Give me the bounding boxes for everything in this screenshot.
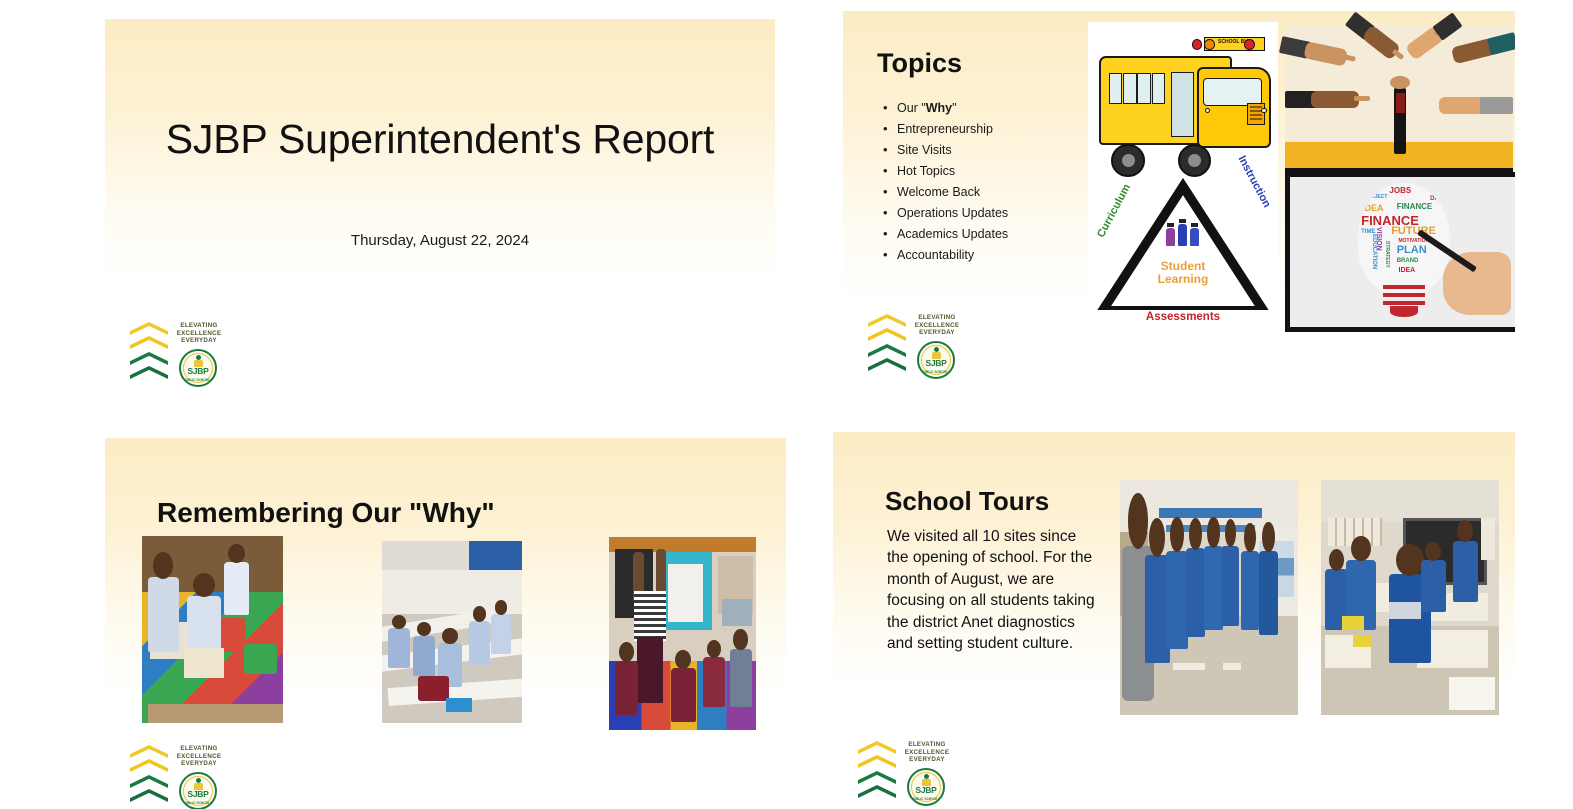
photo-cafeteria[interactable] bbox=[382, 541, 522, 723]
sjbp-seal-icon: SJBP PUBLIC SCHOOLS bbox=[907, 768, 945, 806]
chevron-icon bbox=[858, 741, 896, 799]
chevron-icon bbox=[130, 322, 168, 380]
logo-tagline: ELEVATING EXCELLENCE EVERYDAY bbox=[170, 322, 228, 345]
list-item[interactable]: Site Visits bbox=[881, 140, 1096, 161]
tours-body-text: We visited all 10 sites since the openin… bbox=[887, 526, 1102, 655]
finance-image[interactable]: JOBS PROJECT DATA IDEA FINANCE FINANCE T… bbox=[1285, 172, 1515, 332]
district-logo: ELEVATING EXCELLENCE EVERYDAY SJBP PUBLI… bbox=[130, 318, 226, 384]
graduates-icon bbox=[1166, 222, 1200, 246]
logo-tagline: ELEVATINGEXCELLENCEEVERYDAY bbox=[170, 745, 228, 768]
chevron-icon bbox=[868, 314, 906, 372]
district-logo: ELEVATINGEXCELLENCEEVERYDAY SJBP PUBLIC … bbox=[858, 737, 954, 803]
list-item[interactable]: Accountability bbox=[881, 245, 1096, 266]
list-item[interactable]: Hot Topics bbox=[881, 161, 1096, 182]
slide-topics[interactable]: Topics Our "Why" Entrepreneurship Site V… bbox=[843, 11, 1515, 421]
title-date: Thursday, August 22, 2024 bbox=[105, 232, 775, 249]
triangle-label-assessments: Assessments bbox=[1092, 311, 1274, 323]
student-learning-triangle-image: Curriculum Instruction Assessments Stude… bbox=[1092, 172, 1274, 319]
topics-list: Our "Why" Entrepreneurship Site Visits H… bbox=[881, 98, 1096, 266]
district-logo: ELEVATINGEXCELLENCEEVERYDAY SJBP PUBLIC … bbox=[130, 741, 226, 807]
sjbp-seal-icon: SJBP PUBLIC SCHOOLS bbox=[179, 772, 217, 809]
triangle-label-curriculum: Curriculum bbox=[1095, 182, 1133, 239]
accountability-image[interactable] bbox=[1285, 25, 1513, 175]
slide-school-tours[interactable]: School Tours We visited all 10 sites sin… bbox=[833, 432, 1515, 809]
tours-heading: School Tours bbox=[885, 486, 1049, 517]
photo-classroom-rug[interactable] bbox=[142, 536, 283, 723]
logo-tagline: ELEVATINGEXCELLENCEEVERYDAY bbox=[908, 314, 966, 337]
photo-teacher-raised-arms[interactable] bbox=[609, 537, 756, 730]
person-figure bbox=[1394, 88, 1405, 154]
photo-classroom-meeting[interactable] bbox=[1321, 480, 1499, 715]
slide-remembering-our-why[interactable]: Remembering Our "Why" bbox=[105, 438, 786, 809]
hand-icon bbox=[1443, 252, 1511, 315]
sjbp-seal-icon: SJBP PUBLIC SCHOOLS bbox=[917, 341, 955, 379]
chevron-icon bbox=[130, 745, 168, 803]
photo-hallway-tour[interactable] bbox=[1120, 480, 1298, 715]
why-heading: Remembering Our "Why" bbox=[157, 497, 495, 529]
triangle-label-student-learning: Student Learning bbox=[1092, 260, 1274, 286]
list-item[interactable]: Welcome Back bbox=[881, 182, 1096, 203]
slide-title[interactable]: SJBP Superintendent's Report Thursday, A… bbox=[105, 19, 775, 419]
list-item[interactable]: Entrepreneurship bbox=[881, 119, 1096, 140]
list-item[interactable]: Our "Why" bbox=[881, 98, 1096, 119]
sjbp-seal-icon: SJBP PUBLIC SCHOOLS bbox=[179, 349, 217, 387]
page-title: SJBP Superintendent's Report bbox=[105, 115, 775, 164]
list-item[interactable]: Operations Updates bbox=[881, 203, 1096, 224]
topics-heading: Topics bbox=[877, 48, 962, 79]
school-bus-image[interactable]: SCHOOL BUS Curriculum Instruction Assess… bbox=[1088, 22, 1278, 322]
district-logo: ELEVATINGEXCELLENCEEVERYDAY SJBP PUBLIC … bbox=[868, 310, 964, 376]
list-item[interactable]: Academics Updates bbox=[881, 224, 1096, 245]
logo-tagline: ELEVATINGEXCELLENCEEVERYDAY bbox=[898, 741, 956, 764]
